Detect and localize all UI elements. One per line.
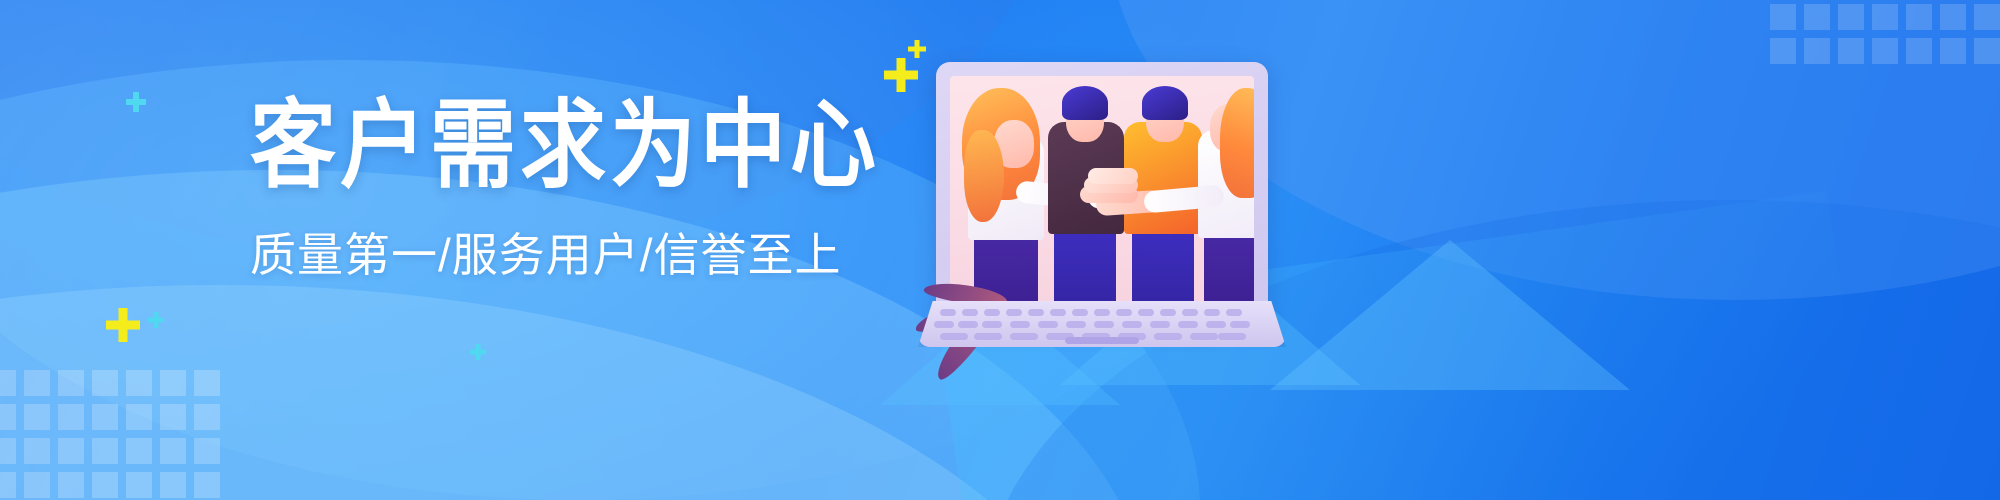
- keyboard-key: [962, 309, 978, 316]
- person-3-hair: [1142, 86, 1188, 120]
- person-4: [1194, 82, 1254, 318]
- plus-yellow-small-icon: [908, 40, 926, 58]
- background-facet-right: [1270, 240, 1630, 390]
- keyboard-key: [1094, 309, 1110, 316]
- banner-copy: 客户需求为中心 质量第一/服务用户/信誉至上: [250, 98, 870, 281]
- keyboard-key: [1154, 333, 1182, 340]
- keyboard-key: [982, 321, 1002, 328]
- promo-banner: 客户需求为中心 质量第一/服务用户/信誉至上: [0, 0, 2000, 500]
- stacked-hands: [1078, 166, 1146, 206]
- laptop-trackpad: [1065, 337, 1139, 344]
- keyboard-key: [1116, 309, 1132, 316]
- plus-cyan-mid-icon: [470, 344, 486, 360]
- keyboard-key: [1072, 309, 1088, 316]
- keyboard-key: [940, 333, 968, 340]
- square-grid-bottom-left: [0, 370, 220, 500]
- laptop-base: [918, 301, 1286, 347]
- keyboard-key: [1206, 321, 1226, 328]
- decorative-fronds: [886, 199, 1006, 309]
- keyboard-key: [974, 333, 1002, 340]
- keyboard-key: [1160, 309, 1176, 316]
- keyboard-key: [1138, 309, 1154, 316]
- keyboard-key: [1226, 309, 1242, 316]
- keyboard-key: [958, 321, 978, 328]
- keyboard-key: [1218, 333, 1246, 340]
- keyboard-key: [1230, 321, 1250, 328]
- person-2-hair: [1062, 86, 1108, 120]
- plus-yellow-corner-icon: [106, 308, 140, 342]
- keyboard-key: [934, 321, 954, 328]
- keyboard-key: [984, 309, 1000, 316]
- plus-yellow-large-icon: [884, 58, 918, 92]
- keyboard-key: [1094, 321, 1114, 328]
- keyboard-key: [1038, 321, 1058, 328]
- keyboard-key: [1182, 309, 1198, 316]
- keyboard-key: [1178, 321, 1198, 328]
- teamwork-laptop-illustration: [918, 62, 1286, 347]
- plus-cyan-edge-icon: [126, 92, 146, 112]
- keyboard-key: [1122, 321, 1142, 328]
- banner-subtitle: 质量第一/服务用户/信誉至上: [250, 230, 870, 281]
- keyboard-key: [1010, 321, 1030, 328]
- keyboard-key: [1150, 321, 1170, 328]
- keyboard-key: [1050, 309, 1066, 316]
- person-4-hair: [1220, 88, 1254, 198]
- keyboard-key: [1010, 333, 1038, 340]
- keyboard-key: [1066, 321, 1086, 328]
- keyboard-key: [940, 309, 956, 316]
- square-grid-top-right: [1770, 0, 2000, 90]
- keyboard-key: [1204, 309, 1220, 316]
- keyboard-key: [1006, 309, 1022, 316]
- keyboard-key: [1028, 309, 1044, 316]
- keyboard-key: [1190, 333, 1218, 340]
- page-title: 客户需求为中心: [250, 98, 870, 194]
- plus-cyan-corner-icon: [148, 312, 164, 328]
